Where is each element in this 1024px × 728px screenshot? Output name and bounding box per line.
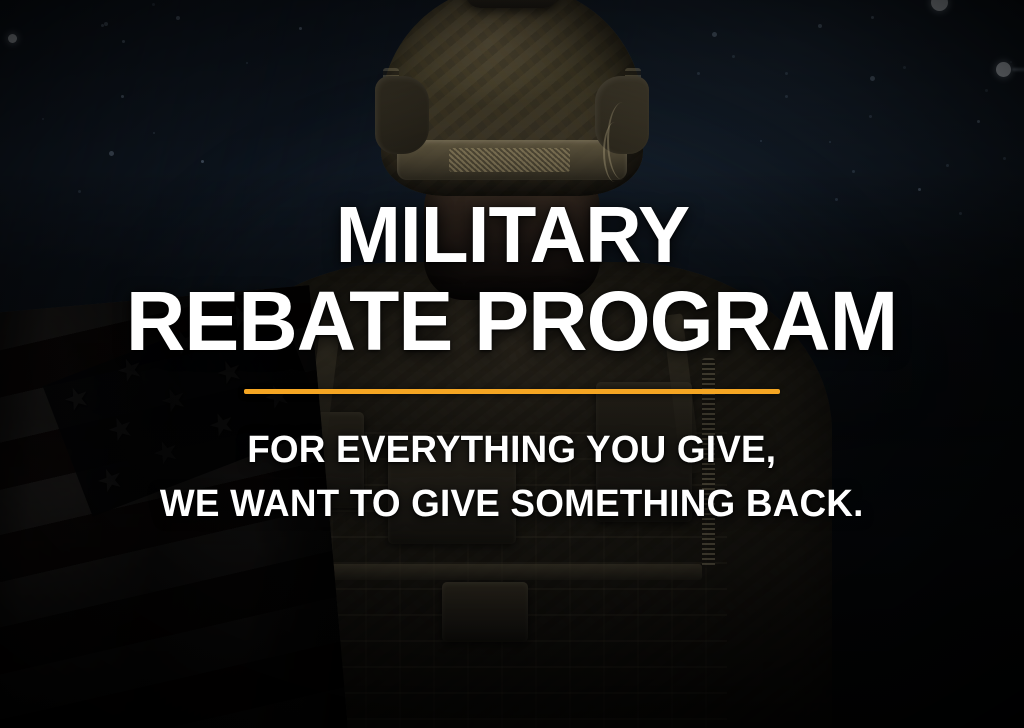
orange-divider-rule [244, 389, 780, 394]
subheadline: FOR EVERYTHING YOU GIVE, WE WANT TO GIVE… [160, 424, 864, 532]
subheadline-line-1: FOR EVERYTHING YOU GIVE, [160, 424, 864, 478]
headline-line-1: MILITARY [335, 196, 689, 274]
subheadline-line-2: WE WANT TO GIVE SOMETHING BACK. [160, 478, 864, 532]
banner-content: MILITARY REBATE PROGRAM FOR EVERYTHING Y… [0, 0, 1024, 728]
military-rebate-banner: ★ ★ ★ ★ ★ ★ ★ ★ ★ ★ ★ MILITARY REBATE PR… [0, 0, 1024, 728]
headline-line-2: REBATE PROGRAM [126, 280, 897, 362]
